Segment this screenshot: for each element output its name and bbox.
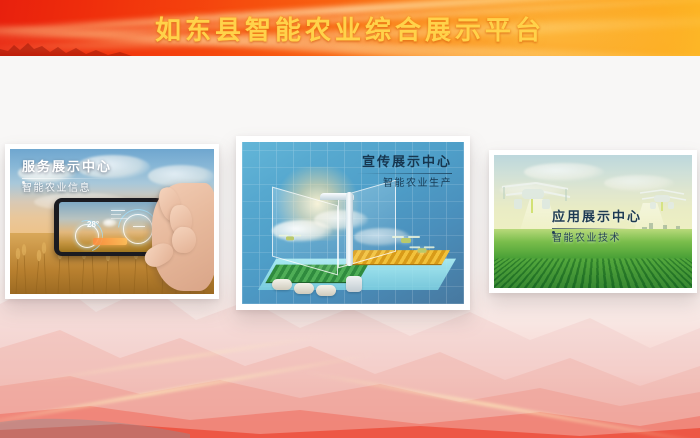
hay-bale	[272, 279, 292, 290]
card-promo-subtitle: 智能农业生产	[356, 177, 452, 190]
drone-icon	[409, 245, 434, 256]
hud-bar	[111, 214, 121, 215]
page-title: 如东县智能农业综合展示平台	[0, 0, 700, 56]
cloud-icon	[103, 219, 117, 227]
smartphone-device: 28°	[54, 198, 164, 256]
card-application-title: 应用展示中心	[552, 209, 642, 225]
hud-bar	[133, 226, 145, 227]
app-root: 如东县智能农业综合展示平台	[0, 0, 700, 438]
hay-bale	[294, 283, 314, 294]
card-service-title: 服务展示中心	[22, 159, 112, 175]
card-application-caption: 应用展示中心 智能农业技术	[552, 209, 642, 245]
card-service-subtitle: 智能农业信息	[22, 182, 112, 195]
hay-bale	[316, 285, 336, 296]
page-header: 如东县智能农业综合展示平台	[0, 0, 700, 56]
water-tank	[346, 276, 362, 292]
card-promo-caption: 宣传展示中心 智能农业生产	[356, 154, 452, 190]
card-application-center[interactable]: 应用展示中心 智能农业技术	[489, 150, 697, 293]
drone-icon	[279, 233, 301, 243]
drone-icon	[636, 183, 688, 217]
card-promo-title: 宣传展示中心	[356, 154, 452, 170]
landscape-light-ray	[32, 334, 329, 384]
caption-divider	[356, 173, 452, 174]
card-application-subtitle: 智能农业技术	[552, 232, 642, 245]
caption-divider	[552, 228, 630, 229]
card-application-image: 应用展示中心 智能农业技术	[494, 155, 692, 288]
iso-gantry-pole	[346, 192, 353, 266]
card-service-image: 28° 服务展示中心 智能农业信息	[10, 149, 214, 294]
card-service-center[interactable]: 28° 服务展示中心 智能农业信息	[5, 144, 219, 299]
hud-bar	[111, 210, 125, 211]
temperature-readout: 28°	[87, 220, 99, 229]
landscape-light-ray	[0, 353, 377, 429]
phone-screen: 28°	[59, 202, 159, 252]
card-promo-image: 宣传展示中心 智能农业生产	[242, 142, 464, 304]
card-service-caption: 服务展示中心 智能农业信息	[22, 159, 112, 195]
card-promo-center[interactable]: 宣传展示中心 智能农业生产	[236, 136, 470, 310]
data-chip	[93, 238, 127, 245]
caption-divider	[22, 178, 110, 179]
landscape-light-ray	[303, 371, 700, 438]
